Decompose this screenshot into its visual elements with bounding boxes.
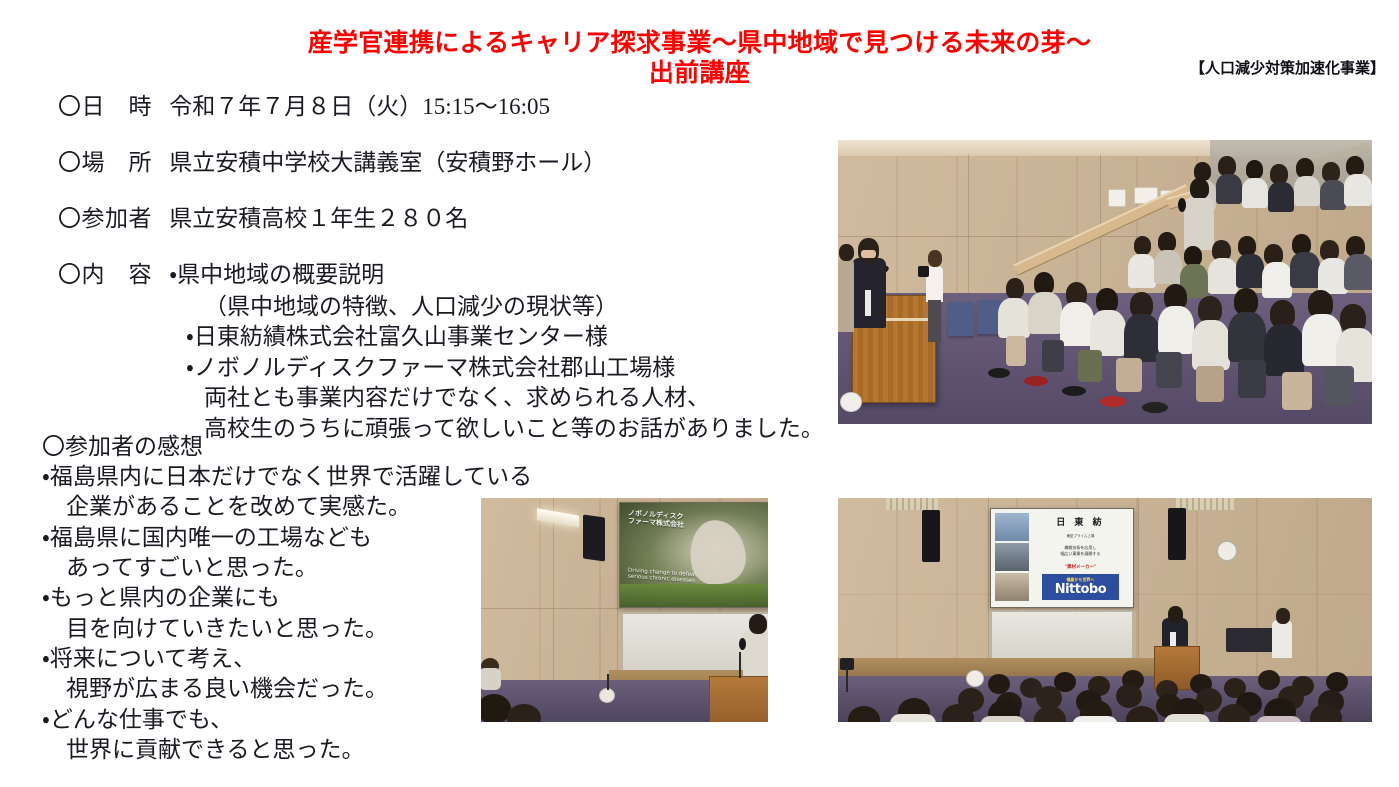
slide-photo-3	[995, 573, 1029, 601]
photographer-legs	[928, 300, 941, 342]
photo-nittobo-slide-audience: 日 東 紡 東証プライム上場 繊維技術を応用し 幅広い事業を展開する "素材メー…	[838, 498, 1372, 722]
detail-venue: 〇場 所 県立安積中学校大講義室（安積野ホール）	[58, 148, 848, 178]
projection-screen: 日 東 紡 東証プライム上場 繊維技術を応用し 幅広い事業を展開する "素材メー…	[990, 508, 1134, 608]
wall-seam	[617, 498, 618, 688]
attendant-body	[838, 258, 854, 332]
slide-body: 繊維技術を応用し 幅広い事業を展開する	[1031, 545, 1130, 557]
speaker-face	[861, 250, 876, 258]
whiteboard	[990, 610, 1134, 662]
wall-speaker	[1168, 508, 1186, 560]
camera-icon	[918, 266, 929, 277]
detail-content-item-4: 両社とも事業内容だけでなく、求められる人材、	[58, 383, 848, 414]
slide-company-name: ノボノルディスク ファーマ株式会社	[628, 509, 684, 529]
slide-title: 日 東 紡	[1031, 515, 1130, 528]
detail-content-item-3: ・ノボノルディスクファーマ株式会社郡山工場様	[58, 353, 848, 384]
detail-content: 〇内 容 ・県中地域の概要説明	[58, 260, 848, 290]
detail-participants-label: 〇参加者	[58, 206, 152, 231]
wall-speaker-box	[1108, 189, 1126, 207]
photo-novo-nordisk-slide: ノボノルディスク ファーマ株式会社 Driving change to defe…	[481, 498, 768, 722]
staff-head	[1276, 608, 1290, 624]
slide-tagline: Driving change to defeat serious chronic…	[628, 567, 697, 584]
detail-content-item-2: ・日東紡績株式会社富久山事業センター様	[58, 322, 848, 353]
impression-3-line1: ・将来について考え、	[42, 646, 256, 671]
microphone-stand	[739, 652, 741, 678]
slide-highlight: "素材メーカー"	[1031, 564, 1130, 570]
wall-seam	[481, 608, 621, 609]
impression-4-line2: 世界に貢献できると思った。	[42, 735, 512, 765]
slide-photo-1	[995, 513, 1029, 541]
wall-seam	[988, 498, 989, 668]
detail-content-sublines: （県中地域の特徴、人口減少の現状等） ・日東紡績株式会社富久山事業センター様 ・…	[58, 292, 848, 445]
detail-datetime-label: 〇日 時	[58, 94, 152, 119]
impressions-section: 〇参加者の感想 ・福島県内に日本だけでなく世界で活躍している 企業があることを改…	[42, 432, 512, 765]
impression-2-line2: 目を向けていきたいと思った。	[42, 614, 512, 644]
attendant-head	[839, 244, 854, 261]
staff-body	[1272, 620, 1292, 658]
ceiling-louver	[886, 498, 938, 510]
wall-speaker	[583, 514, 605, 561]
slide-photo-strip	[995, 513, 1029, 601]
photographer-head	[928, 250, 942, 267]
projection-screen: ノボノルディスク ファーマ株式会社 Driving change to defe…	[619, 502, 768, 608]
photo-lecture-hall-speaker	[838, 140, 1372, 424]
photo-scene: ノボノルディスク ファーマ株式会社 Driving change to defe…	[481, 498, 768, 722]
detail-venue-value: 県立安積中学校大講義室（安積野ホール）	[169, 150, 606, 175]
logo-wordmark: Nittobo	[1055, 583, 1106, 596]
floor-mic-stand	[607, 674, 609, 690]
event-details: 〇日 時 令和７年７月８日（火）15:15〜16:05 〇場 所 県立安積中学校…	[58, 92, 848, 444]
detail-datetime: 〇日 時 令和７年７月８日（火）15:15〜16:05	[58, 92, 848, 122]
wall-seam	[1138, 498, 1139, 658]
photo-scene	[838, 140, 1372, 424]
impression-0-line1: ・福島県内に日本だけでなく世界で活躍している	[42, 464, 532, 489]
title-line-1: 産学官連携によるキャリア探求事業〜県中地域で見つける未来の芽〜	[0, 28, 1399, 58]
impression-2-line1: ・もっと県内の企業にも	[42, 585, 280, 610]
detail-participants-value: 県立安積高校１年生２８０名	[169, 206, 468, 231]
wall-clock	[1216, 540, 1238, 562]
slide-content: 日 東 紡 東証プライム上場 繊維技術を応用し 幅広い事業を展開する "素材メー…	[991, 509, 1133, 607]
floor-mic-base	[599, 688, 615, 703]
slide-content: ノボノルディスク ファーマ株式会社 Driving change to defe…	[620, 503, 768, 607]
impression-item: ・将来について考え、 視野が広まる良い機会だった。	[42, 644, 512, 705]
impression-item: ・福島県に国内唯一の工場なども あってすごいと思った。	[42, 523, 512, 584]
detail-content-item-1: （県中地域の特徴、人口減少の現状等）	[58, 292, 848, 323]
presenter-head	[1168, 606, 1183, 623]
impression-item: ・もっと県内の企業にも 目を向けていきたいと思った。	[42, 583, 512, 644]
impression-item: ・どんな仕事でも、 世界に貢献できると思った。	[42, 705, 512, 766]
impression-item: ・福島県内に日本だけでなく世界で活躍している 企業があることを改めて実感た。	[42, 462, 512, 523]
tripod-stand	[846, 668, 848, 692]
photo-scene: 日 東 紡 東証プライム上場 繊維技術を応用し 幅広い事業を展開する "素材メー…	[838, 498, 1372, 722]
chair	[948, 302, 974, 336]
audience-body	[481, 668, 501, 690]
floor-projector	[966, 670, 984, 687]
speaker-shirt	[865, 290, 871, 316]
program-badge: 【人口減少対策加速化事業】	[1190, 57, 1385, 78]
impression-3-line2: 視野が広まる良い機会だった。	[42, 674, 512, 704]
impressions-heading: 〇参加者の感想	[42, 432, 512, 462]
detail-content-label: 〇内 容	[58, 262, 152, 287]
impression-1-line1: ・福島県に国内唯一の工場なども	[42, 525, 372, 550]
nittobo-logo: 福島から世界へ Nittobo	[1042, 574, 1119, 600]
detail-content-item-0: ・県中地域の概要説明	[169, 262, 384, 287]
detail-participants: 〇参加者 県立安積高校１年生２８０名	[58, 204, 848, 234]
floor-device	[840, 392, 862, 412]
presenter-head	[749, 614, 767, 634]
slide-subtitle: 東証プライム上場	[1031, 534, 1130, 539]
detail-venue-label: 〇場 所	[58, 150, 152, 175]
wall-speaker	[922, 510, 940, 562]
wooden-lectern	[709, 676, 768, 722]
handheld-microphone	[739, 638, 746, 650]
detail-datetime-value: 令和７年７月８日（火）15:15〜16:05	[169, 94, 550, 119]
impression-1-line2: あってすごいと思った。	[42, 553, 512, 583]
impression-0-line2: 企業があることを改めて実感た。	[42, 492, 512, 522]
slide-photo-2	[995, 543, 1029, 571]
slide-photo-grass	[620, 584, 768, 607]
impression-4-line1: ・どんな仕事でも、	[42, 707, 233, 732]
